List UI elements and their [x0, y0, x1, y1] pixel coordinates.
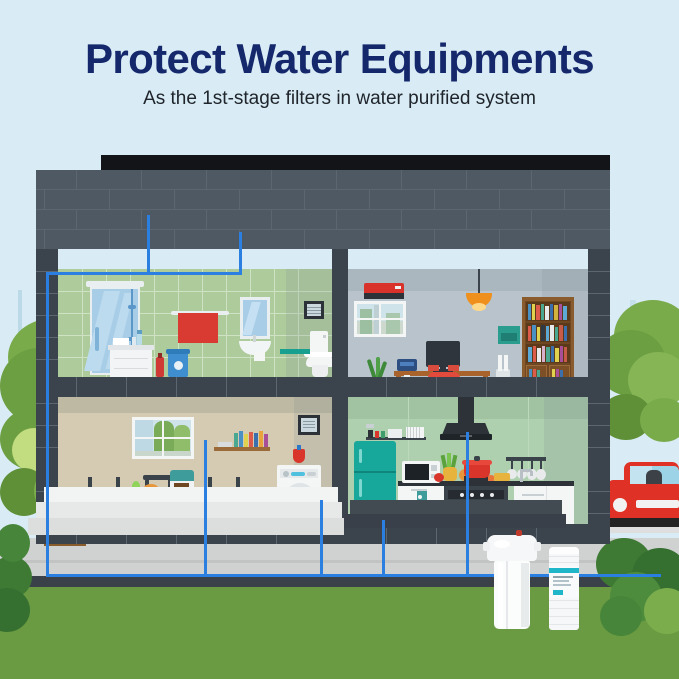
bush-r-5 — [600, 596, 642, 636]
pipe-drop-shower — [147, 215, 150, 273]
room-bathroom — [58, 269, 332, 377]
header-banner: Protect Water Equipments As the 1st-stag… — [0, 0, 679, 130]
page-title: Protect Water Equipments — [0, 36, 679, 82]
pipe-branch-bathroom-floor — [46, 272, 242, 275]
pipe-drop-coffee-maker — [204, 440, 207, 575]
roof-cap — [101, 155, 610, 170]
illustration-canvas: Protect Water Equipments As the 1st-stag… — [0, 0, 679, 679]
filter-housing-valve — [516, 530, 522, 536]
car-driver — [646, 470, 662, 484]
filter-housing-port-right — [534, 542, 541, 551]
car-grille — [636, 500, 679, 508]
pipe-drop-refrigerator — [382, 520, 385, 575]
desk-paper-left — [428, 365, 439, 371]
pipe-drop-washing-machine — [320, 500, 323, 575]
step-middle — [36, 502, 342, 518]
cartridge-winding-4 — [549, 608, 579, 609]
house-floor-middle — [36, 377, 610, 397]
soap-bottle — [156, 357, 164, 377]
car-bumper — [608, 518, 679, 527]
cartridge-label-text-2 — [553, 580, 569, 582]
filter-housing-shade — [521, 563, 529, 627]
pipe-drop-bath-sink — [239, 232, 242, 273]
step-top — [44, 487, 338, 502]
cartridge-winding-6 — [549, 624, 579, 625]
filter-housing-port-left — [483, 542, 490, 551]
roof-brick-band — [36, 170, 610, 249]
kitchen-base-2 — [344, 514, 566, 528]
cartridge-label-text-1 — [553, 576, 573, 578]
room-office — [348, 269, 588, 377]
filter-housing-cap-shine — [494, 540, 510, 548]
toilet-paper — [254, 351, 265, 361]
car-shadow — [606, 527, 679, 533]
cartridge-label-band — [549, 568, 579, 573]
cartridge-winding-5 — [549, 616, 579, 617]
cartridge-winding-2 — [549, 562, 579, 563]
cartridge-top — [549, 547, 579, 554]
page-subtitle: As the 1st-stage filters in water purifi… — [0, 88, 679, 110]
trash-bin-lid — [166, 349, 190, 354]
recycle-symbol — [174, 361, 183, 370]
filter-housing-highlight — [498, 563, 503, 627]
filter-housing-ridge — [506, 561, 508, 629]
house-cutaway — [36, 155, 610, 544]
dining-ceiling-shade — [58, 397, 332, 413]
desk-paper-right — [448, 365, 459, 371]
pipe-riser-left — [46, 272, 49, 575]
pipe-drop-kitchen-sink — [466, 432, 469, 575]
cartridge-winding-1 — [549, 556, 579, 557]
step-bottom — [28, 518, 344, 535]
car-headlight — [613, 498, 627, 512]
kitchen-base-1 — [350, 500, 562, 514]
cartridge-label-text-3 — [553, 584, 571, 586]
soap-bottle-cap — [158, 353, 162, 358]
cartridge-winding-3 — [549, 600, 579, 601]
filter-housing-cap — [487, 535, 537, 561]
cartridge-label-accent — [553, 590, 563, 595]
